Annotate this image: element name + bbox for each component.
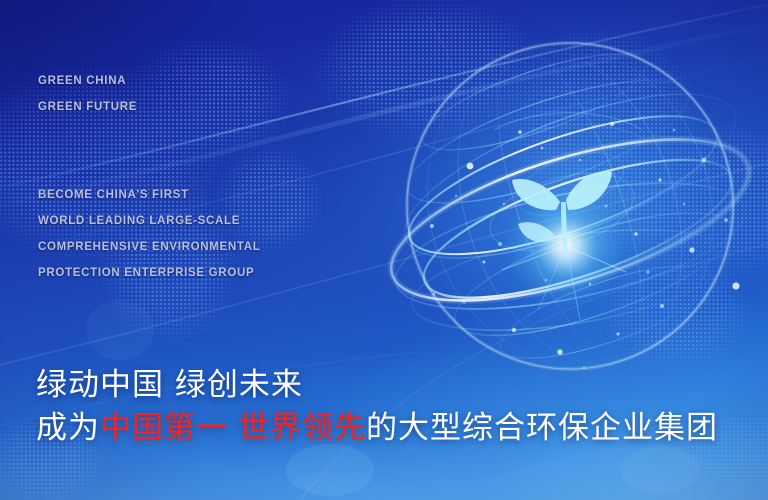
- tagline-line-2: GREEN FUTURE: [38, 94, 137, 120]
- core-rays: [502, 246, 626, 320]
- globe-meridians: [385, 34, 756, 380]
- statement-line-2: WORLD LEADING LARGE-SCALE: [38, 208, 261, 234]
- english-statement: BECOME CHINA'S FIRST WORLD LEADING LARGE…: [38, 182, 261, 286]
- headline-line-1: 绿动中国 绿创未来: [36, 364, 718, 406]
- globe-orbits: [374, 61, 766, 349]
- tagline-line-1: GREEN CHINA: [38, 68, 137, 94]
- headline-line-2: 成为中国第一世界领先的大型综合环保企业集团: [36, 406, 718, 450]
- statement-line-4: PROTECTION ENTERPRISE GROUP: [38, 260, 261, 286]
- globe-particles-cyan: [455, 195, 686, 370]
- banner-hero: GREEN CHINA GREEN FUTURE BECOME CHINA'S …: [0, 0, 768, 500]
- headline-highlight-world-leading: 世界领先: [238, 410, 366, 446]
- core-glow: [504, 184, 628, 308]
- globe-particles: [430, 122, 740, 355]
- headline-prefix: 成为: [36, 410, 100, 446]
- chinese-headline: 绿动中国 绿创未来 成为中国第一世界领先的大型综合环保企业集团: [36, 364, 718, 450]
- headline-highlight-china-first: 中国第一: [100, 410, 228, 446]
- wireframe-globe-graphic: [374, 34, 766, 380]
- globe-inner-structure: [481, 113, 650, 265]
- english-tagline: GREEN CHINA GREEN FUTURE: [38, 68, 137, 120]
- statement-line-3: COMPREHENSIVE ENVIRONMENTAL: [38, 234, 261, 260]
- statement-line-1: BECOME CHINA'S FIRST: [38, 182, 261, 208]
- headline-suffix: 的大型综合环保企业集团: [366, 410, 718, 446]
- globe-latitudes: [374, 34, 766, 380]
- green-sprout-icon: [512, 171, 612, 254]
